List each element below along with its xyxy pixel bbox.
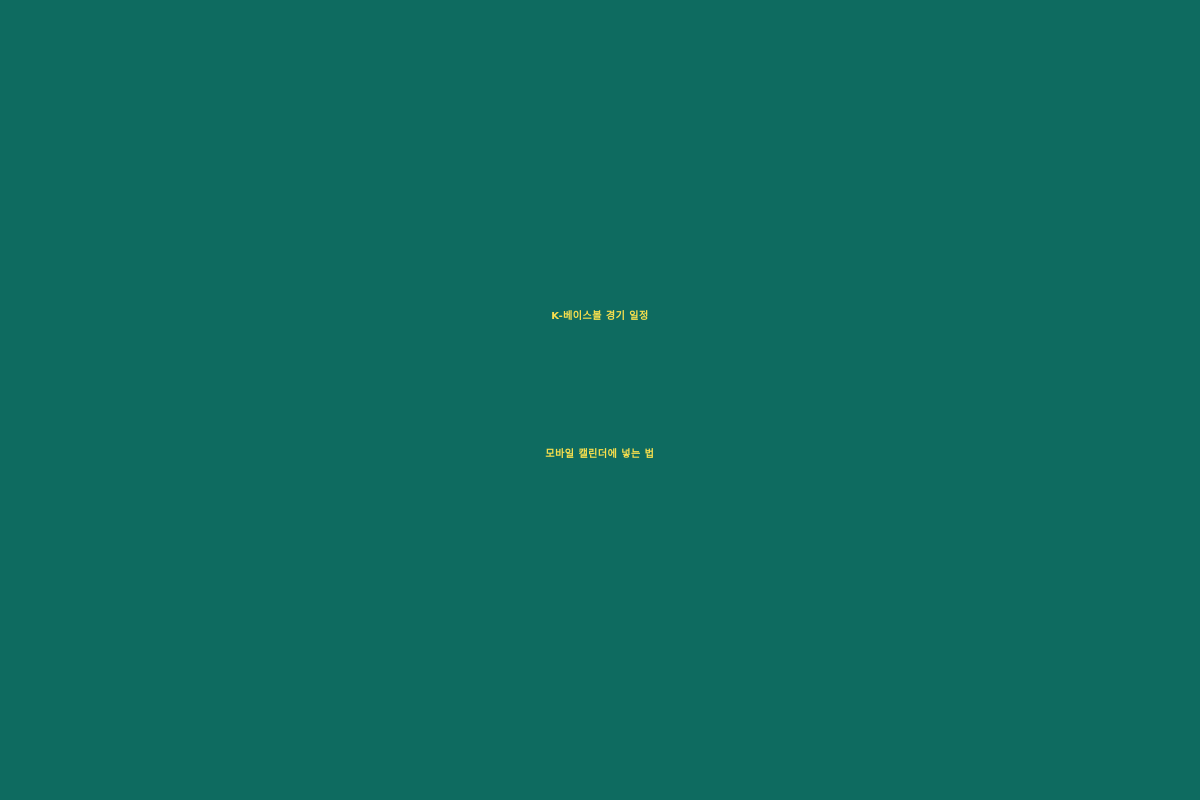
thumbnail-banner: K-베이스볼 경기 일정 모바일 캘린더에 넣는 법	[0, 0, 1200, 800]
title-line-1: K-베이스볼 경기 일정	[0, 248, 1200, 386]
title-block: K-베이스볼 경기 일정 모바일 캘린더에 넣는 법	[0, 248, 1200, 524]
title-line-2: 모바일 캘린더에 넣는 법	[0, 386, 1200, 524]
